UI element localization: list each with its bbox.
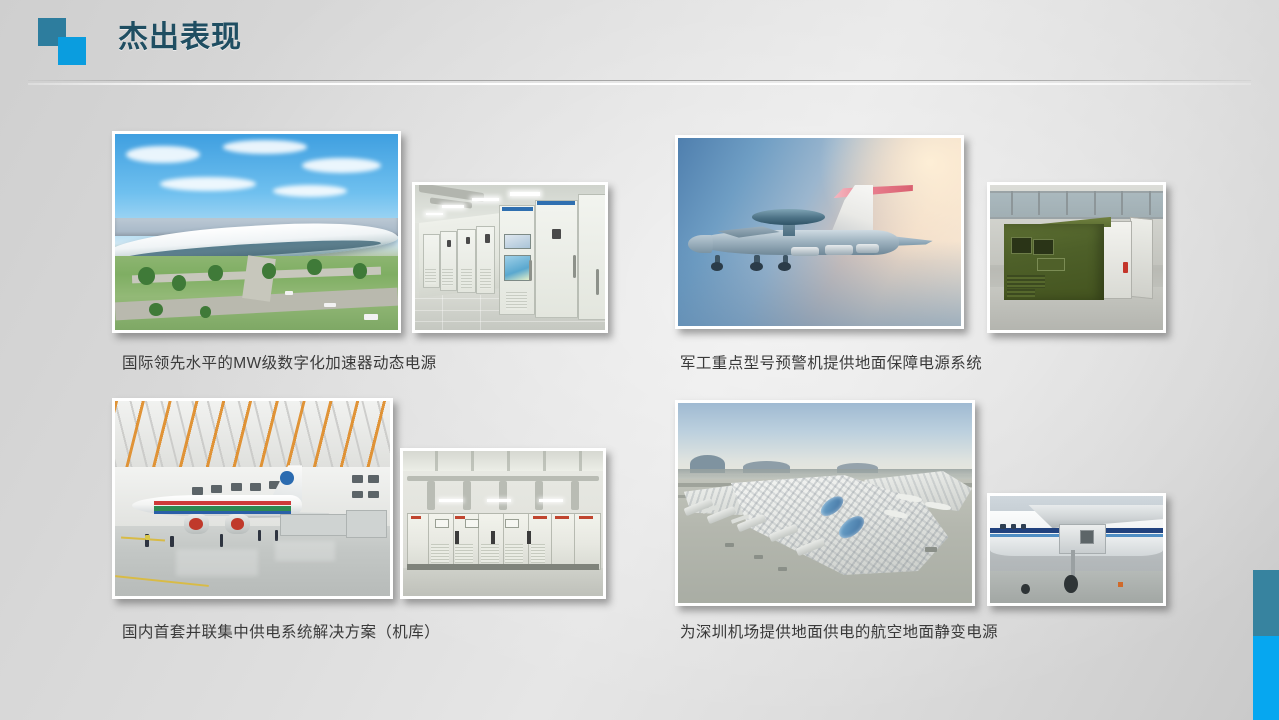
header-divider — [28, 80, 1251, 81]
edge-accent-dark — [1253, 570, 1279, 636]
cabinet-corridor-artwork — [415, 185, 605, 330]
header-divider-highlight — [28, 83, 1251, 85]
ground-power-unit-artwork — [990, 496, 1163, 603]
caption-q4: 为深圳机场提供地面供电的航空地面静变电源 — [680, 620, 998, 642]
convention-center-artwork — [115, 134, 398, 330]
slide-title: 杰出表现 — [118, 19, 242, 57]
cabinet-row-artwork — [403, 451, 603, 596]
photo-parallel-power-cabinet-row — [400, 448, 606, 599]
caption-q3: 国内首套并联集中供电系统解决方案（机库） — [122, 620, 440, 642]
photo-convention-center-aerial — [112, 131, 401, 333]
photo-aircraft-ground-power-unit — [987, 493, 1166, 606]
awacs-artwork — [678, 138, 961, 326]
photo-power-cabinet-corridor — [412, 182, 608, 333]
header-square-bright — [58, 37, 86, 65]
caption-q2: 军工重点型号预警机提供地面保障电源系统 — [680, 351, 982, 373]
photo-green-military-shelter — [987, 182, 1166, 333]
photo-awacs-aircraft-in-flight — [675, 135, 964, 329]
photo-shenzhen-airport-terminal — [675, 400, 975, 606]
caption-q1: 国际领先水平的MW级数字化加速器动态电源 — [122, 351, 437, 373]
airport-terminal-artwork — [678, 403, 972, 603]
photo-aircraft-maintenance-hangar — [112, 398, 393, 599]
edge-accent-bright — [1253, 636, 1279, 720]
military-shelter-artwork — [990, 185, 1163, 330]
hangar-artwork — [115, 401, 390, 596]
presentation-slide: 杰出表现 — [0, 0, 1279, 720]
